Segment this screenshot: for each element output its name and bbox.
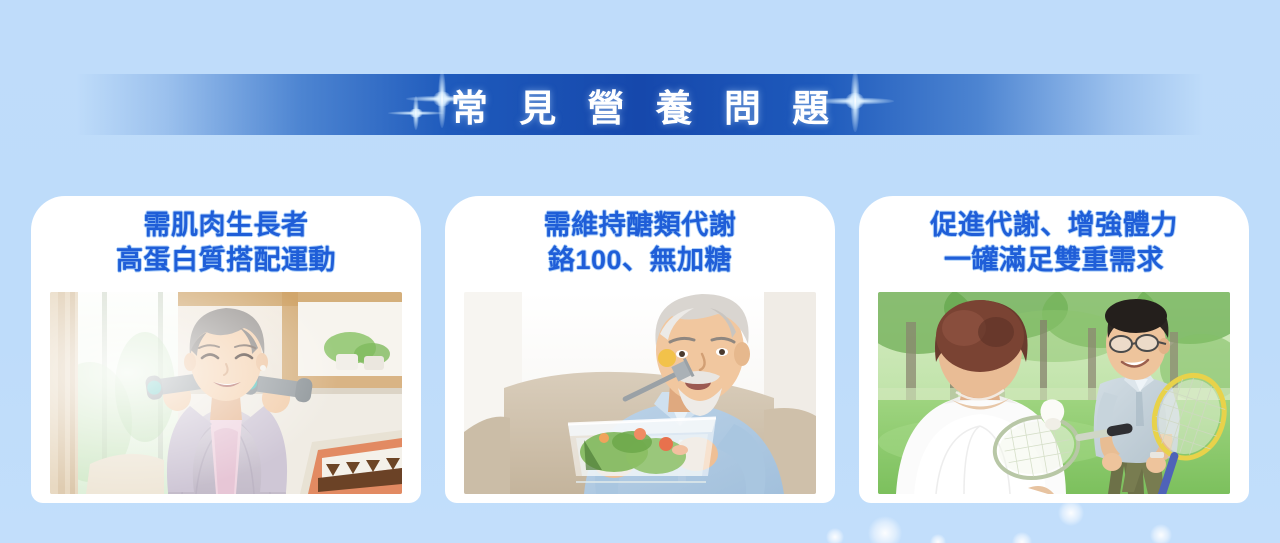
card-dual-benefit[interactable]: 促進代謝、增強體力 一罐滿足雙重需求	[859, 196, 1249, 503]
bokeh-glow	[1150, 524, 1172, 543]
page-background: 常 見 營 養 問 題 需肌肉生長者 高蛋白質搭配運動	[0, 0, 1280, 543]
card-title-line-1: 需維持醣類代謝	[544, 208, 737, 243]
card-title: 需維持醣類代謝 鉻100、無加糖	[544, 208, 737, 278]
senior-man-eating-salad-photo	[464, 292, 816, 494]
card-title: 促進代謝、增強體力 一罐滿足雙重需求	[930, 208, 1178, 278]
bokeh-glow	[1012, 532, 1032, 543]
card-title-line-2: 一罐滿足雙重需求	[930, 243, 1178, 278]
card-title-line-2: 高蛋白質搭配運動	[116, 243, 336, 278]
card-title: 需肌肉生長者 高蛋白質搭配運動	[116, 208, 336, 278]
cards-row: 需肌肉生長者 高蛋白質搭配運動	[0, 196, 1280, 503]
senior-couple-playing-badminton-photo	[878, 292, 1230, 494]
bokeh-glow	[930, 534, 946, 543]
bokeh-glow	[826, 528, 844, 543]
card-muscle-growth[interactable]: 需肌肉生長者 高蛋白質搭配運動	[31, 196, 421, 503]
sparkle-small-left-icon	[388, 96, 444, 130]
bokeh-glow	[1058, 500, 1084, 526]
card-title-line-1: 需肌肉生長者	[116, 208, 336, 243]
bokeh-glow	[868, 516, 902, 543]
card-title-line-1: 促進代謝、增強體力	[930, 208, 1178, 243]
page-title: 常 見 營 養 問 題	[440, 78, 840, 132]
senior-woman-lifting-dumbbells-photo	[50, 292, 402, 494]
title-banner: 常 見 營 養 問 題	[76, 74, 1204, 135]
card-title-line-2: 鉻100、無加糖	[544, 243, 737, 278]
card-sugar-metabolism[interactable]: 需維持醣類代謝 鉻100、無加糖	[445, 196, 835, 503]
